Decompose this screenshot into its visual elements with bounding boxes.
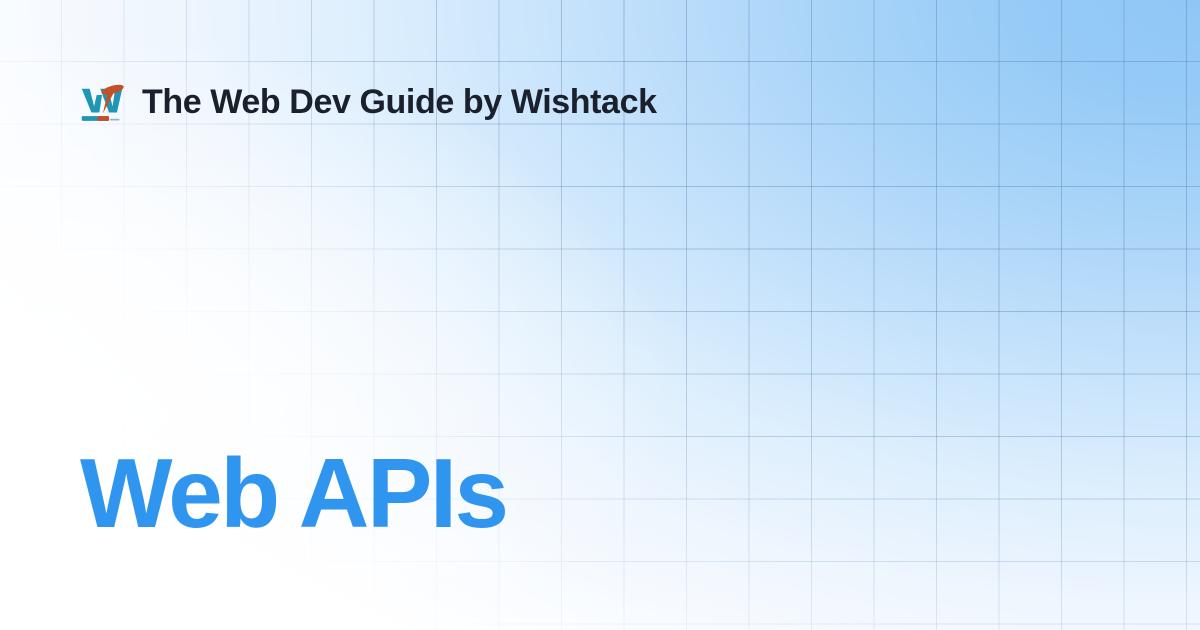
wishtack-logo-icon: [80, 80, 124, 124]
page-title: Web APIs: [80, 442, 507, 545]
og-card: The Web Dev Guide by Wishtack Web APIs: [0, 0, 1200, 630]
brand-header: The Web Dev Guide by Wishtack: [80, 80, 657, 124]
brand-title: The Web Dev Guide by Wishtack: [142, 85, 657, 119]
